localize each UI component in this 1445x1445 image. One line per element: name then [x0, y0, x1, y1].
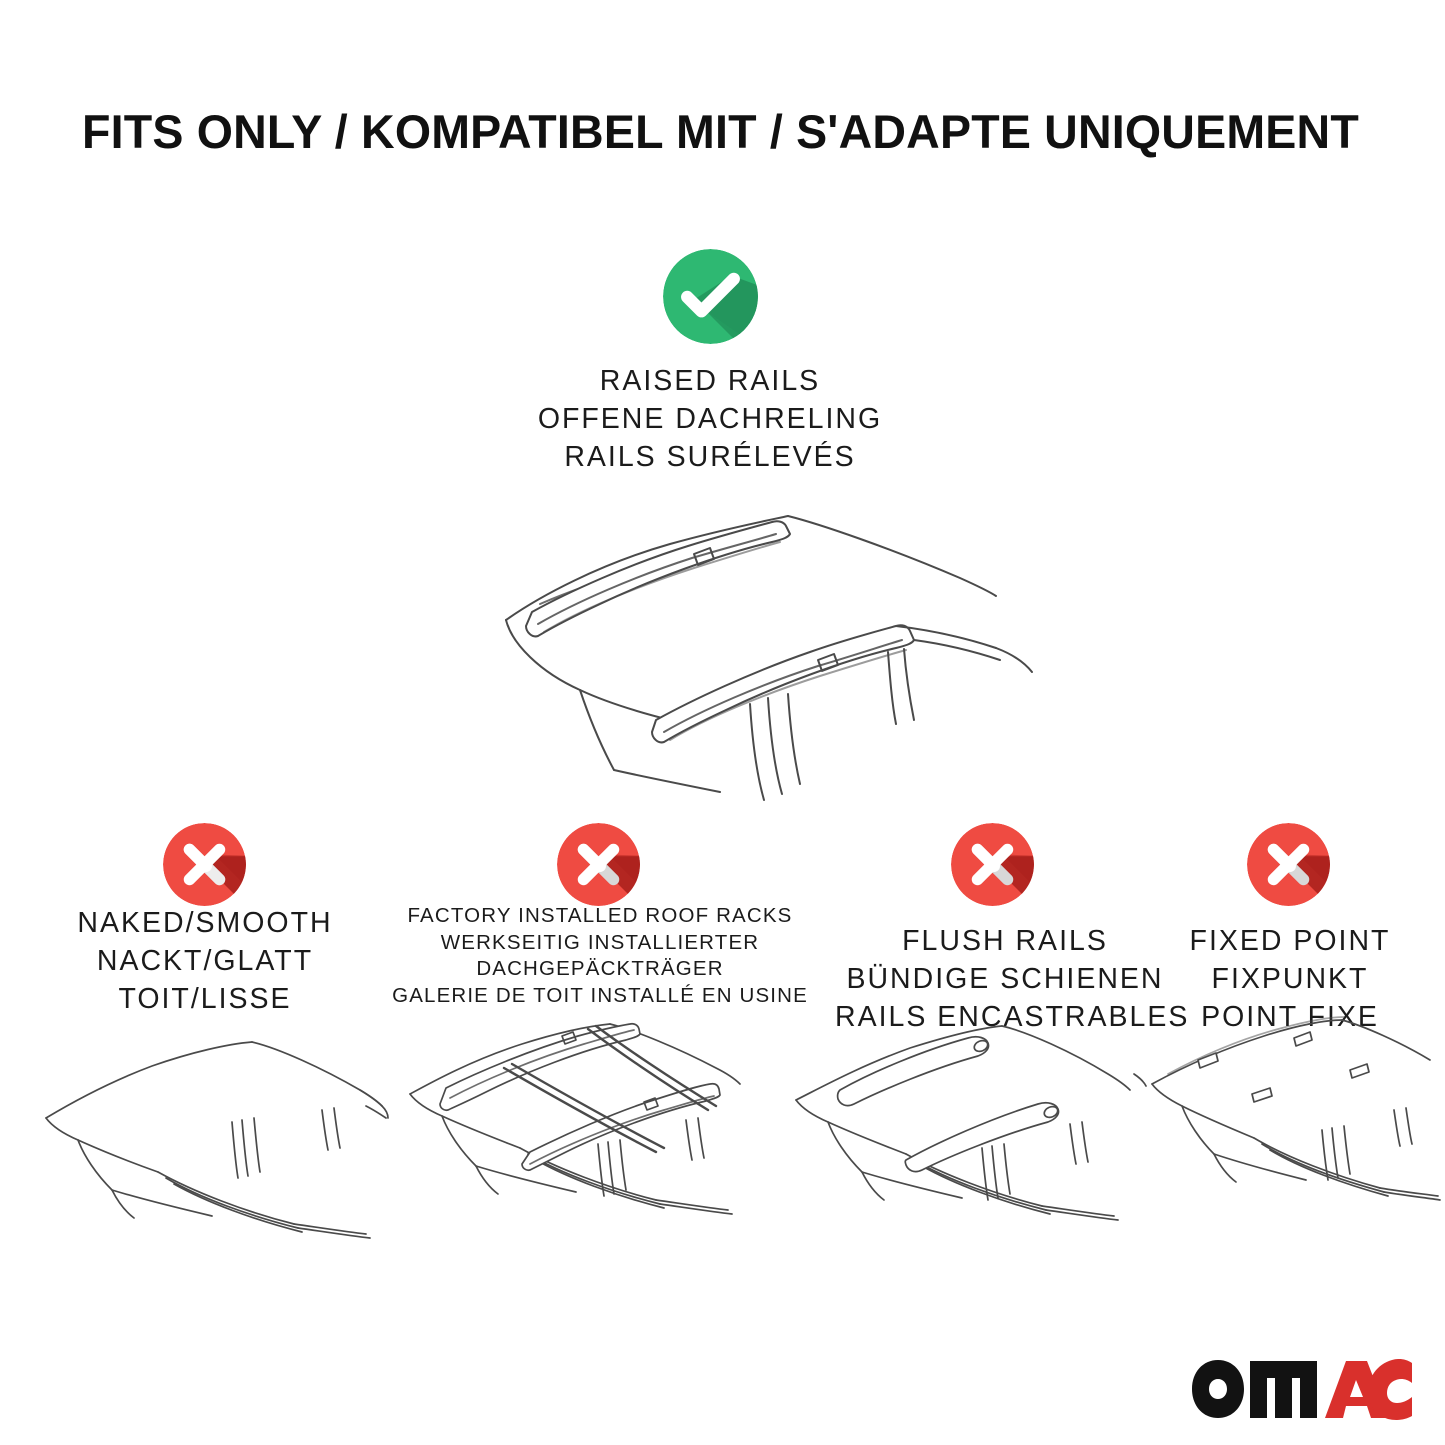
incompatible-2-label-en: FACTORY INSTALLED ROOF RACKS	[355, 903, 845, 930]
car-roof-fixed-point-illustration	[1142, 1012, 1442, 1252]
incompatible-2-label-de-1: WERKSEITIG INSTALLIERTER	[355, 930, 845, 957]
check-circle-icon	[663, 249, 758, 344]
omac-letter-o	[1192, 1360, 1244, 1418]
cross-circle-icon	[1247, 823, 1330, 906]
cross-circle-icon	[951, 823, 1034, 906]
page-title: FITS ONLY / KOMPATIBEL MIT / S'ADAPTE UN…	[82, 104, 1359, 160]
car-roof-raised-rails-illustration	[420, 492, 1050, 812]
incompatible-4-label-de: FIXPUNKT	[1135, 960, 1445, 998]
compatible-label-fr: RAILS SURÉLEVÉS	[420, 438, 1000, 476]
incompatible-1-label-en: NAKED/SMOOTH	[40, 904, 370, 942]
incompatible-2-label-de-2: DACHGEPÄCKTRÄGER	[355, 956, 845, 983]
incompatible-2-label-fr: GALERIE DE TOIT INSTALLÉ EN USINE	[355, 983, 845, 1010]
car-roof-flush-rails-illustration	[782, 1012, 1152, 1252]
incompatible-3-label-en: FLUSH RAILS	[835, 922, 1175, 960]
incompatible-1-label-fr: TOIT/LISSE	[40, 980, 370, 1018]
cross-circle-icon	[557, 823, 640, 906]
compatible-caption: RAISED RAILS OFFENE DACHRELING RAILS SUR…	[420, 362, 1000, 476]
omac-logo	[1186, 1352, 1418, 1426]
incompatible-caption-1: NAKED/SMOOTH NACKT/GLATT TOIT/LISSE	[40, 904, 370, 1018]
incompatible-caption-2: FACTORY INSTALLED ROOF RACKS WERKSEITIG …	[355, 903, 845, 1009]
car-roof-naked-smooth-illustration	[22, 1022, 392, 1252]
incompatible-1-label-de: NACKT/GLATT	[40, 942, 370, 980]
omac-letter-m	[1250, 1361, 1317, 1418]
compatible-label-en: RAISED RAILS	[420, 362, 1000, 400]
incompatible-3-label-de: BÜNDIGE SCHIENEN	[835, 960, 1175, 998]
compatibility-infographic: FITS ONLY / KOMPATIBEL MIT / S'ADAPTE UN…	[0, 0, 1445, 1445]
cross-circle-icon	[163, 823, 246, 906]
incompatible-4-label-en: FIXED POINT	[1135, 922, 1445, 960]
car-roof-factory-racks-illustration	[402, 1012, 772, 1252]
compatible-label-de: OFFENE DACHRELING	[420, 400, 1000, 438]
